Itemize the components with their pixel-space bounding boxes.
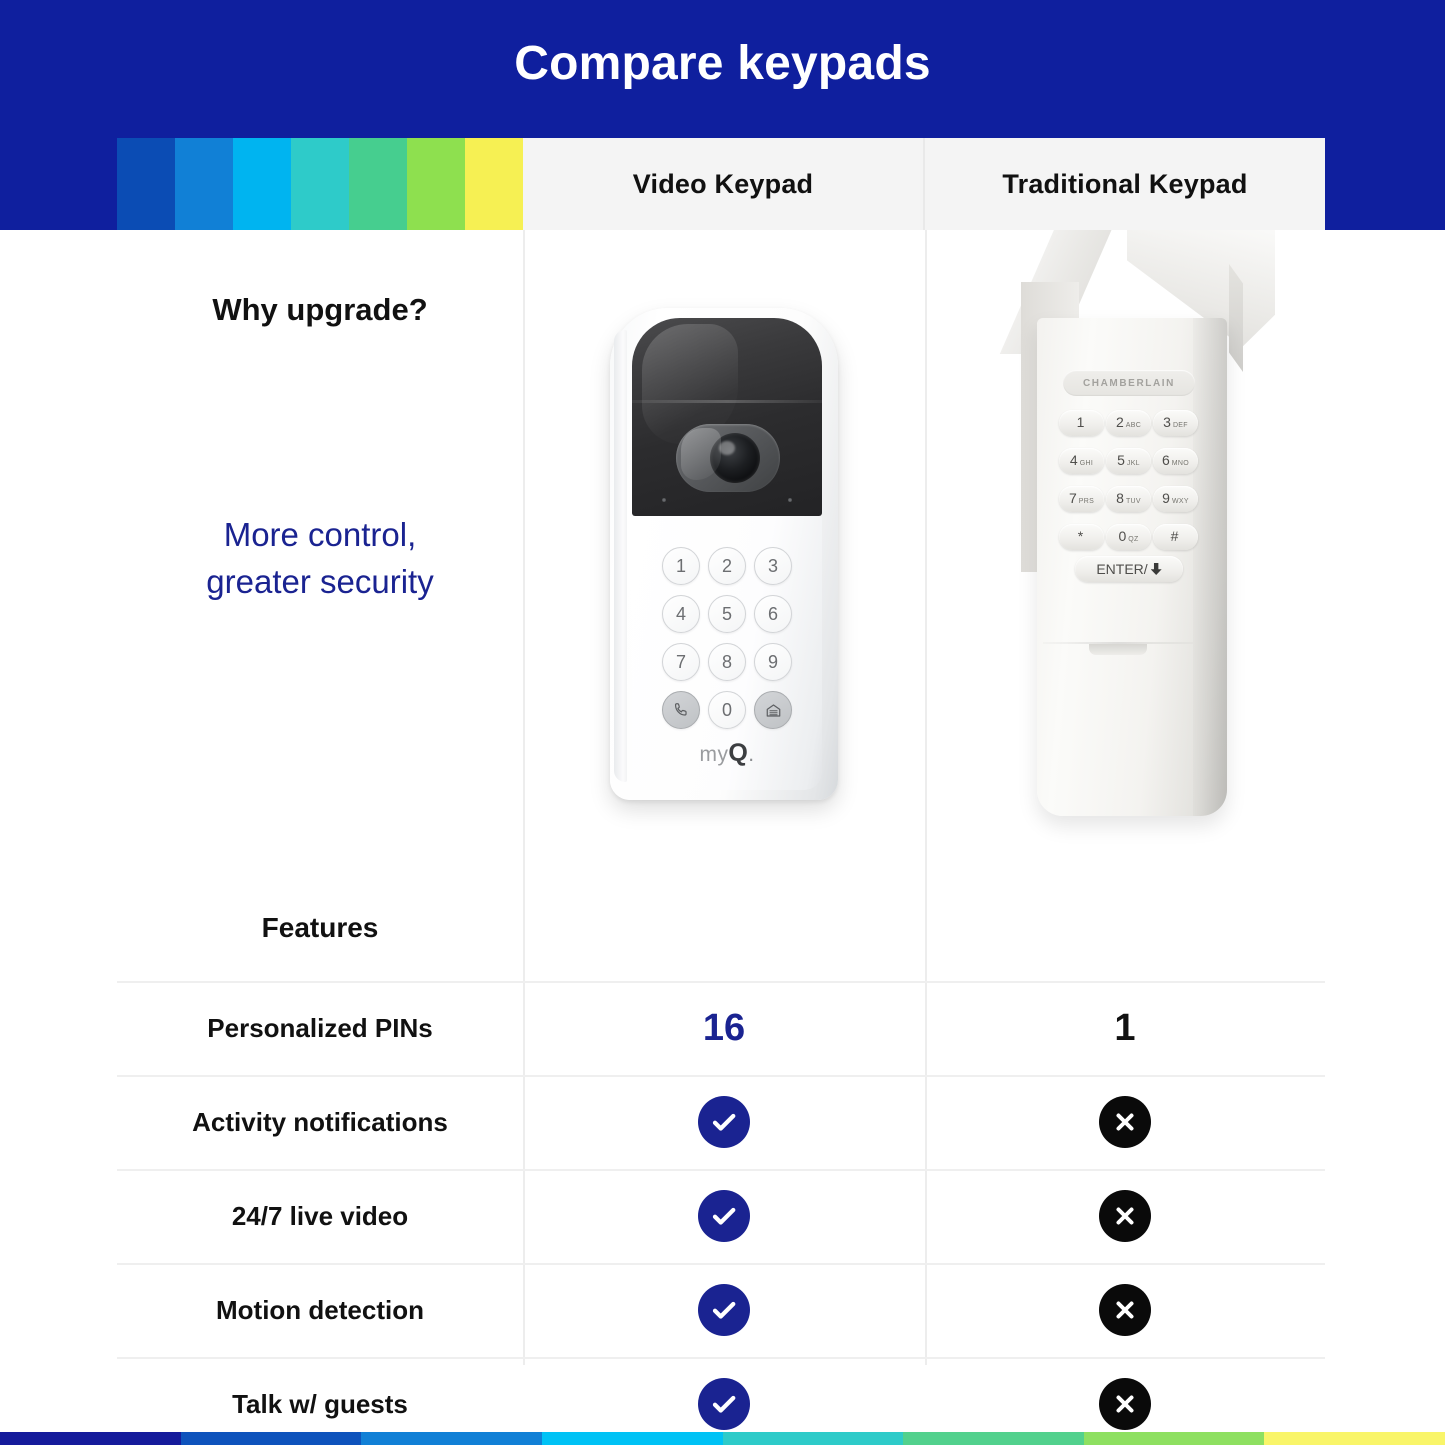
cross-icon [1099,1096,1151,1148]
video-key-9[interactable]: 9 [754,643,792,681]
row-value-video [523,1075,925,1169]
phone-icon[interactable] [662,691,700,729]
swatch-bottom-2 [181,1432,362,1445]
trad-key-2[interactable]: 2ABC [1106,410,1151,436]
trad-key-7-digit: 7 [1069,490,1077,506]
traditional-keypad-device: CHAMBERLAIN 1 2ABC 3DEF 4GHI 5JKL 6MNO 7… [975,230,1275,832]
trad-key-8[interactable]: 8TUV [1106,486,1151,512]
swatch-top-5 [349,138,407,230]
trad-key-3[interactable]: 3DEF [1153,410,1198,436]
trad-key-4-digit: 4 [1070,452,1078,468]
row-label-activity-notifications: Activity notifications [117,1075,523,1169]
video-keypad-device: 1 2 3 4 5 6 7 8 9 [610,308,838,800]
row-label-motion-detection: Motion detection [117,1263,523,1357]
hero-tagline: More control, greater security [117,512,523,606]
trad-key-0-digit: 0 [1118,528,1126,544]
hero-tagline-line-1: More control, [117,512,523,559]
trad-key-1-digit: 1 [1077,414,1085,430]
swatch-bottom-1 [0,1432,181,1445]
trad-key-9-sub: WXY [1172,498,1189,505]
trad-key-8-digit: 8 [1116,490,1124,506]
swatch-bottom-5 [723,1432,904,1445]
swatch-top-2 [175,138,233,230]
row-value-traditional: 1 [925,981,1325,1075]
video-keypad-camera-face [632,318,822,516]
swatch-top-7 [465,138,523,230]
trad-key-9-digit: 9 [1162,490,1170,506]
video-key-4[interactable]: 4 [662,595,700,633]
swatch-bottom-8 [1264,1432,1445,1445]
trad-key-5[interactable]: 5JKL [1106,448,1151,474]
column-header-video-keypad: Video Keypad [523,138,923,230]
enter-key[interactable]: ENTER/ [1075,556,1183,582]
traditional-keypad-body-shading [1193,318,1227,816]
video-keypad-side-edge [614,330,627,782]
features-header-row: Features [117,875,1325,981]
row-value-traditional [925,1263,1325,1357]
table-row: Activity notifications [117,1075,1325,1169]
myq-logo-my: my [700,743,729,766]
trad-key-7-sub: PRS [1079,498,1094,505]
video-key-3[interactable]: 3 [754,547,792,585]
trad-key-4-sub: GHI [1080,460,1093,467]
camera-lens-icon [710,433,760,483]
video-keypad-body: 1 2 3 4 5 6 7 8 9 [632,516,822,790]
check-icon [698,1190,750,1242]
down-arrow-icon [1151,563,1162,575]
myq-logo-q: Q [728,739,748,767]
garage-icon[interactable] [754,691,792,729]
check-icon [698,1096,750,1148]
trad-key-0-sub: QZ [1128,536,1138,543]
row-value-video [523,1169,925,1263]
row-value-traditional [925,1075,1325,1169]
trad-key-star[interactable]: * [1059,524,1104,550]
trad-key-3-sub: DEF [1173,422,1188,429]
trad-key-hash-digit: # [1171,528,1179,544]
video-key-8[interactable]: 8 [708,643,746,681]
trad-key-6-sub: MNO [1172,460,1189,467]
trad-key-2-sub: ABC [1126,422,1141,429]
page-title: Compare keypads [0,36,1445,91]
swatch-top-3 [233,138,291,230]
video-key-1[interactable]: 1 [662,547,700,585]
row-value-traditional [925,1169,1325,1263]
video-keypad-product-image: 1 2 3 4 5 6 7 8 9 [523,230,925,875]
personalized-pins-video-value: 16 [703,1007,745,1050]
myq-logo-dot: . [748,743,754,766]
camera-lens-housing [676,424,780,492]
video-key-6[interactable]: 6 [754,595,792,633]
chamberlain-brand-label: CHAMBERLAIN [1063,370,1195,396]
camera-face-seam [632,400,822,403]
cross-icon [1099,1284,1151,1336]
swatch-bottom-7 [1084,1432,1265,1445]
video-keypad-keys: 1 2 3 4 5 6 7 8 9 [658,542,796,734]
trad-key-5-sub: JKL [1127,460,1140,467]
personalized-pins-traditional-value: 1 [1114,1007,1135,1050]
trad-key-4[interactable]: 4GHI [1059,448,1104,474]
trad-key-7[interactable]: 7PRS [1059,486,1104,512]
video-key-0[interactable]: 0 [708,691,746,729]
swatch-top-4 [291,138,349,230]
row-label-personalized-pins: Personalized PINs [117,981,523,1075]
trad-key-5-digit: 5 [1117,452,1125,468]
trad-key-8-sub: TUV [1126,498,1141,505]
sensor-hole-icon [788,498,792,502]
brand-color-swatch-strip-top [117,138,523,230]
row-label-live-video: 24/7 live video [117,1169,523,1263]
check-icon [698,1284,750,1336]
traditional-keypad-body: CHAMBERLAIN 1 2ABC 3DEF 4GHI 5JKL 6MNO 7… [1037,318,1227,816]
hero-tagline-line-2: greater security [117,559,523,606]
table-row: 24/7 live video [117,1169,1325,1263]
video-key-5[interactable]: 5 [708,595,746,633]
traditional-keypad-product-image: CHAMBERLAIN 1 2ABC 3DEF 4GHI 5JKL 6MNO 7… [925,230,1325,875]
cross-icon [1099,1378,1151,1430]
trad-key-1[interactable]: 1 [1059,410,1104,436]
trad-key-0[interactable]: 0QZ [1106,524,1151,550]
comparison-column-headers: Video Keypad Traditional Keypad [523,138,1325,230]
swatch-bottom-3 [361,1432,542,1445]
trad-key-star-digit: * [1078,528,1083,544]
swatch-bottom-6 [903,1432,1084,1445]
swatch-top-6 [407,138,465,230]
trad-key-6[interactable]: 6MNO [1153,448,1198,474]
traditional-keypad-keys: 1 2ABC 3DEF 4GHI 5JKL 6MNO 7PRS 8TUV 9WX… [1059,410,1199,557]
trad-key-6-digit: 6 [1162,452,1170,468]
table-row: Motion detection [117,1263,1325,1357]
enter-key-label: ENTER/ [1096,561,1147,577]
myq-logo: myQ. [632,739,822,768]
hero-row: Why upgrade? More control, greater secur… [117,230,1325,875]
hero-left-cell: Why upgrade? More control, greater secur… [117,230,523,875]
hero-question: Why upgrade? [117,292,523,328]
swatch-bottom-4 [542,1432,723,1445]
video-key-2[interactable]: 2 [708,547,746,585]
check-icon [698,1378,750,1430]
battery-cover-notch [1089,644,1147,655]
comparison-table: Why upgrade? More control, greater secur… [117,230,1325,1365]
trad-key-2-digit: 2 [1116,414,1124,430]
brand-color-swatch-strip-bottom [0,1432,1445,1445]
comparison-infographic: Compare keypads Video Keypad Traditional… [0,0,1445,1445]
column-header-traditional-keypad: Traditional Keypad [923,138,1325,230]
table-row: Personalized PINs 16 1 [117,981,1325,1075]
trad-key-3-digit: 3 [1163,414,1171,430]
trad-key-hash[interactable]: # [1153,524,1198,550]
features-header-label: Features [117,875,523,981]
cross-icon [1099,1190,1151,1242]
row-value-video [523,1263,925,1357]
video-key-7[interactable]: 7 [662,643,700,681]
swatch-top-1 [117,138,175,230]
microphone-hole-icon [662,498,666,502]
trad-key-9[interactable]: 9WXY [1153,486,1198,512]
row-value-video: 16 [523,981,925,1075]
